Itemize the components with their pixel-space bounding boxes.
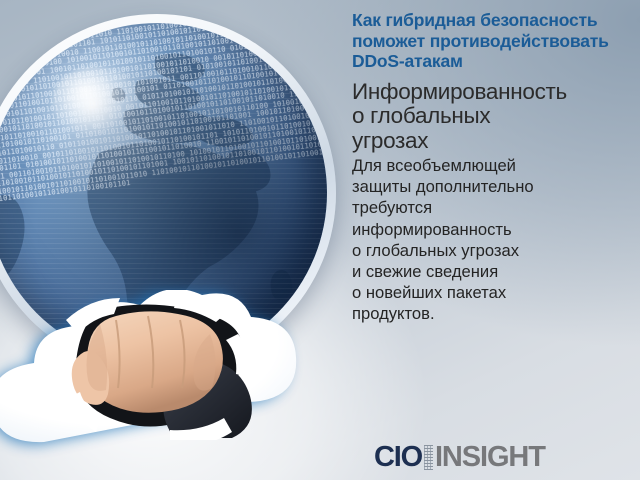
body-line-7: о новейших пакетах [352,282,638,303]
body-line-2: защиты дополнительно [352,176,638,197]
headline-line-3: угрозах [352,129,638,154]
headline-line-1: Информированность [352,80,638,105]
body-line-8: продуктов. [352,303,638,324]
body-line-3: требуются [352,197,638,218]
body-line-4: информированность [352,219,638,240]
logo-insight-text: INSIGHT [435,441,545,474]
kicker-line-3: DDoS-атакам [352,51,638,72]
body-copy: Для всеобъемлющей защиты дополнительно т… [352,155,638,325]
kicker-heading: Как гибридная безопасность поможет проти… [352,10,638,72]
dotted-divider-icon [424,445,433,470]
logo-cio-text: CIO [374,441,422,474]
page-title: Информированность о глобальных угрозах [352,80,638,154]
cloud-fist-artwork: D D o S [0,290,360,470]
cio-insight-logo: CIO INSIGHT [374,442,545,472]
body-line-1: Для всеобъемлющей [352,155,638,176]
globe-specular-highlight [52,67,140,135]
body-line-5: о глобальных угрозах [352,240,638,261]
fist-punching-through-cloud [60,294,270,440]
kicker-line-2: поможет противодействовать [352,31,638,52]
slide-canvas: 0110101001011010010110100101101001011010… [0,0,640,480]
body-line-6: и свежие сведения [352,261,638,282]
headline-line-2: о глобальных [352,104,638,129]
text-column: Как гибридная безопасность поможет проти… [352,10,638,325]
kicker-line-1: Как гибридная безопасность [352,10,638,31]
